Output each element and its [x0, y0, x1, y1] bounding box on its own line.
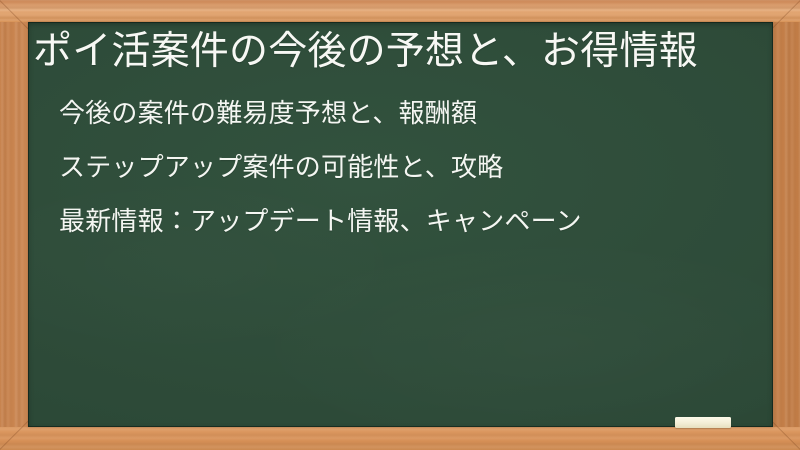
bullet-item-3: 最新情報：アップデート情報、キャンペーン — [59, 208, 759, 234]
bullet-item-2: ステップアップ案件の可能性と、攻略 — [59, 154, 759, 180]
chalkboard-slide: ポイ活案件の今後の予想と、お得情報 今後の案件の難易度予想と、報酬額 ステップア… — [0, 0, 800, 450]
bullet-list: 今後の案件の難易度予想と、報酬額 ステップアップ案件の可能性と、攻略 最新情報：… — [59, 100, 759, 234]
frame-rail-bottom-ledge — [0, 427, 800, 450]
slide-title: ポイ活案件の今後の予想と、お得情報 — [33, 32, 763, 71]
bullet-item-1: 今後の案件の難易度予想と、報酬額 — [59, 100, 759, 126]
slide-content: ポイ活案件の今後の予想と、お得情報 今後の案件の難易度予想と、報酬額 ステップア… — [28, 22, 773, 427]
chalkboard-surface: ポイ活案件の今後の予想と、お得情報 今後の案件の難易度予想と、報酬額 ステップア… — [28, 22, 773, 427]
frame-rail-top — [0, 0, 800, 22]
chalk-stick-icon — [675, 417, 731, 428]
